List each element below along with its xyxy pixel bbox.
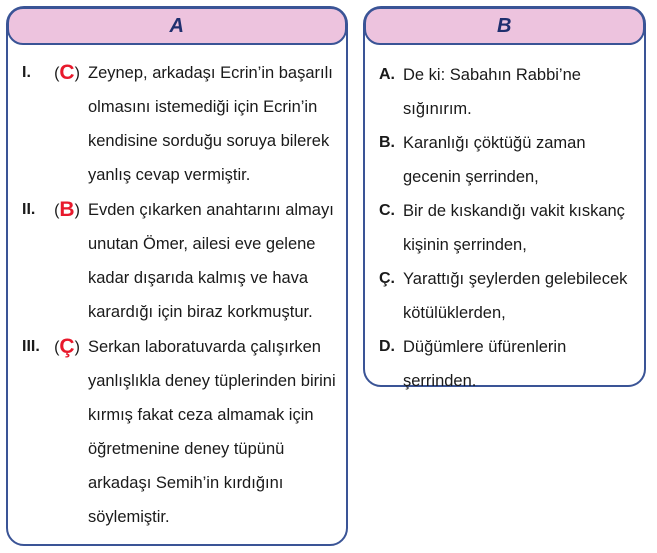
column-b-header-label: B	[497, 16, 512, 36]
item-text: Zeynep, arkadaşı Ecrin’in başarılı olmas…	[86, 56, 336, 192]
item-text: Evden çıkarken anahtarını almayı unutan …	[86, 193, 336, 329]
matching-worksheet: A I. (C) Zeynep, arkadaşı Ecrin’in başar…	[0, 0, 657, 553]
item-marker: A.	[379, 58, 403, 92]
item-marker: I.	[18, 56, 48, 90]
answer-letter: Ç	[59, 335, 74, 358]
answer-letter: B	[59, 198, 74, 221]
list-item: A. De ki: Sabahın Rabbi’ne sığınırım.	[379, 58, 632, 126]
answer-paren-close: )	[75, 202, 80, 219]
column-b-header: B	[364, 7, 645, 45]
item-marker: B.	[379, 126, 403, 160]
list-item: C. Bir de kıskandığı vakit kıskanç kişin…	[379, 194, 632, 262]
list-item: I. (C) Zeynep, arkadaşı Ecrin’in başarıl…	[18, 56, 336, 192]
answer-paren-close: )	[75, 339, 80, 356]
item-text: Düğümlere üfürenlerin şerrinden.	[403, 330, 632, 398]
column-b: B A. De ki: Sabahın Rabbi’ne sığınırım. …	[363, 6, 646, 387]
column-a-body: I. (C) Zeynep, arkadaşı Ecrin’in başarıl…	[8, 45, 346, 534]
list-item: B. Karanlığı çöktüğü zaman gecenin şerri…	[379, 126, 632, 194]
item-marker: Ç.	[379, 262, 403, 296]
item-marker: D.	[379, 330, 403, 364]
item-marker: C.	[379, 194, 403, 228]
column-a: A I. (C) Zeynep, arkadaşı Ecrin’in başar…	[6, 6, 348, 546]
item-text: Serkan laboratuvarda çalışırken yanlışlı…	[86, 330, 336, 534]
list-item: D. Düğümlere üfürenlerin şerrinden.	[379, 330, 632, 398]
item-marker: II.	[18, 193, 48, 227]
column-b-body: A. De ki: Sabahın Rabbi’ne sığınırım. B.…	[365, 45, 644, 398]
answer-letter: C	[59, 61, 74, 84]
list-item: II. (B) Evden çıkarken anahtarını almayı…	[18, 193, 336, 329]
column-a-header-label: A	[170, 16, 185, 36]
answer-slot[interactable]: (B)	[48, 193, 86, 228]
item-text: Bir de kıskandığı vakit kıskanç kişinin …	[403, 194, 632, 262]
column-a-header: A	[7, 7, 347, 45]
item-text: Yarattığı şeylerden gelebilecek kötülükl…	[403, 262, 632, 330]
item-text: Karanlığı çöktüğü zaman gecenin şerrinde…	[403, 126, 632, 194]
list-item: Ç. Yarattığı şeylerden gelebilecek kötül…	[379, 262, 632, 330]
list-item: III. (Ç) Serkan laboratuvarda çalışırken…	[18, 330, 336, 534]
item-marker: III.	[18, 330, 48, 364]
answer-slot[interactable]: (Ç)	[48, 330, 86, 365]
answer-paren-close: )	[75, 65, 80, 82]
answer-slot[interactable]: (C)	[48, 56, 86, 91]
item-text: De ki: Sabahın Rabbi’ne sığınırım.	[403, 58, 632, 126]
